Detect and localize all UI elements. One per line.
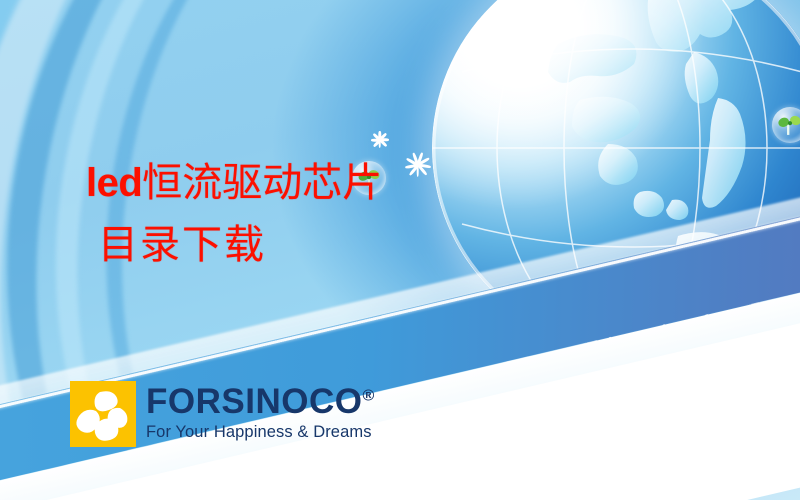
logo-wordmark: FORSINOCO® For Your Happiness & Dreams	[146, 381, 374, 442]
promo-banner: led恒流驱动芯片 目录下载 FORSINOCO® For Your Happi…	[0, 0, 800, 500]
brand-logo: FORSINOCO® For Your Happiness & Dreams	[70, 381, 374, 447]
green-sprout-icon	[772, 107, 800, 143]
headline-cjk: 恒流驱动芯片	[142, 160, 382, 205]
brand-name-text: FORSINOCO	[146, 382, 362, 421]
bubble-sprout-right	[772, 107, 800, 143]
flower-small-upper	[371, 131, 388, 148]
headline-line-1: led恒流驱动芯片	[86, 163, 486, 203]
registered-mark-icon: ®	[362, 387, 374, 404]
headline-line-2: 目录下载	[98, 225, 486, 265]
headline: led恒流驱动芯片 目录下载	[86, 163, 486, 265]
four-petal-pinwheel-icon	[70, 381, 136, 447]
green-sprout-icon	[495, 325, 533, 363]
brand-name: FORSINOCO®	[146, 384, 374, 419]
headline-latin: led	[86, 161, 142, 205]
globe-icon	[432, 0, 800, 348]
brand-tagline: For Your Happiness & Dreams	[146, 423, 374, 442]
globe-geography	[432, 0, 800, 348]
bubble-sprout-mid	[495, 325, 533, 363]
